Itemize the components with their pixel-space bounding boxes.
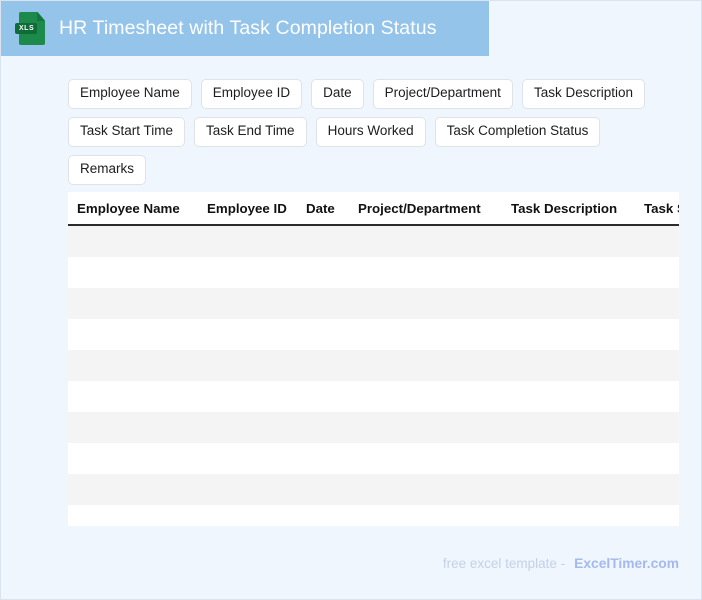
table-cell[interactable] — [306, 288, 358, 319]
table-row[interactable] — [68, 412, 679, 443]
table-cell[interactable] — [306, 505, 358, 526]
table-cell[interactable] — [644, 257, 679, 288]
column-header-employee-id[interactable]: Employee ID — [207, 192, 306, 225]
table-cell[interactable] — [207, 350, 306, 381]
column-header-task-description[interactable]: Task Description — [511, 192, 644, 225]
footer-brand-link[interactable]: ExcelTimer.com — [574, 556, 679, 571]
table-row[interactable] — [68, 381, 679, 412]
page-title: HR Timesheet with Task Completion Status — [59, 17, 437, 40]
table-cell-spacer — [68, 225, 77, 257]
table-cell[interactable] — [207, 381, 306, 412]
table-cell[interactable] — [644, 381, 679, 412]
table-cell[interactable] — [358, 381, 511, 412]
table-cell[interactable] — [207, 412, 306, 443]
table-cell[interactable] — [511, 257, 644, 288]
table-header-row: Employee Name Employee ID Date Project/D… — [68, 192, 679, 225]
field-chip-project-department[interactable]: Project/Department — [373, 79, 513, 109]
field-chip-employee-name[interactable]: Employee Name — [68, 79, 192, 109]
table-cell[interactable] — [207, 443, 306, 474]
table-cell[interactable] — [358, 505, 511, 526]
table-cell[interactable] — [358, 319, 511, 350]
table-cell[interactable] — [644, 288, 679, 319]
table-cell[interactable] — [358, 474, 511, 505]
table-row[interactable] — [68, 505, 679, 526]
table-cell[interactable] — [358, 257, 511, 288]
table-cell[interactable] — [306, 319, 358, 350]
field-chip-task-start-time[interactable]: Task Start Time — [68, 117, 185, 147]
table-cell[interactable] — [306, 443, 358, 474]
footer-attribution: free excel template - ExcelTimer.com — [443, 556, 679, 571]
table-row[interactable] — [68, 319, 679, 350]
table-cell[interactable] — [511, 443, 644, 474]
table-cell-spacer — [68, 474, 77, 505]
table-cell[interactable] — [77, 288, 207, 319]
table-cell[interactable] — [644, 443, 679, 474]
table-cell[interactable] — [511, 350, 644, 381]
table-cell[interactable] — [306, 225, 358, 257]
table-cell[interactable] — [77, 412, 207, 443]
table-row[interactable] — [68, 443, 679, 474]
table-cell[interactable] — [207, 257, 306, 288]
table-cell[interactable] — [306, 412, 358, 443]
table-row[interactable] — [68, 257, 679, 288]
table-row[interactable] — [68, 474, 679, 505]
table-row[interactable] — [68, 288, 679, 319]
field-chip-date[interactable]: Date — [311, 79, 364, 109]
field-chip-task-completion-status[interactable]: Task Completion Status — [435, 117, 601, 147]
table-cell[interactable] — [77, 350, 207, 381]
table-cell[interactable] — [358, 225, 511, 257]
table-row[interactable] — [68, 225, 679, 257]
table-cell[interactable] — [207, 319, 306, 350]
table-cell[interactable] — [77, 319, 207, 350]
table-cell[interactable] — [358, 288, 511, 319]
column-header-task-start-time[interactable]: Task Start Time — [644, 192, 679, 225]
field-chip-task-end-time[interactable]: Task End Time — [194, 117, 307, 147]
table-cell[interactable] — [306, 474, 358, 505]
table-cell-spacer — [68, 412, 77, 443]
table-cell[interactable] — [207, 505, 306, 526]
timesheet-table-container[interactable]: Employee Name Employee ID Date Project/D… — [68, 192, 679, 526]
table-cell[interactable] — [511, 319, 644, 350]
column-header-date[interactable]: Date — [306, 192, 358, 225]
table-cell[interactable] — [358, 350, 511, 381]
field-chip-remarks[interactable]: Remarks — [68, 155, 146, 185]
table-cell[interactable] — [644, 350, 679, 381]
table-cell[interactable] — [644, 505, 679, 526]
table-cell[interactable] — [77, 443, 207, 474]
table-header: Employee Name Employee ID Date Project/D… — [68, 192, 679, 225]
table-cell[interactable] — [207, 474, 306, 505]
table-cell-spacer — [68, 319, 77, 350]
field-chip-hours-worked[interactable]: Hours Worked — [316, 117, 426, 147]
field-chip-list: Employee Name Employee ID Date Project/D… — [68, 79, 668, 185]
table-cell-spacer — [68, 257, 77, 288]
table-row[interactable] — [68, 350, 679, 381]
table-cell[interactable] — [358, 443, 511, 474]
table-cell[interactable] — [511, 412, 644, 443]
footer-label: free excel template - — [443, 556, 565, 571]
template-page: XLS HR Timesheet with Task Completion St… — [0, 0, 702, 600]
table-cell[interactable] — [511, 505, 644, 526]
table-cell[interactable] — [77, 474, 207, 505]
table-cell-spacer — [68, 381, 77, 412]
field-chip-task-description[interactable]: Task Description — [522, 79, 645, 109]
table-cell[interactable] — [644, 474, 679, 505]
table-cell[interactable] — [511, 288, 644, 319]
table-cell[interactable] — [511, 225, 644, 257]
table-cell[interactable] — [77, 381, 207, 412]
table-cell[interactable] — [511, 381, 644, 412]
table-cell[interactable] — [77, 505, 207, 526]
table-cell-spacer — [68, 350, 77, 381]
table-cell[interactable] — [306, 381, 358, 412]
table-header-spacer — [68, 192, 77, 225]
xls-file-icon: XLS — [19, 12, 45, 45]
xls-icon-badge-label: XLS — [15, 23, 37, 34]
page-header-bar: XLS HR Timesheet with Task Completion St… — [1, 1, 489, 56]
table-cell-spacer — [68, 288, 77, 319]
field-chip-employee-id[interactable]: Employee ID — [201, 79, 302, 109]
table-cell-spacer — [68, 505, 77, 526]
table-cell[interactable] — [306, 350, 358, 381]
table-cell[interactable] — [644, 225, 679, 257]
timesheet-table: Employee Name Employee ID Date Project/D… — [68, 192, 679, 526]
column-header-employee-name[interactable]: Employee Name — [77, 192, 207, 225]
table-cell[interactable] — [306, 257, 358, 288]
table-body — [68, 225, 679, 526]
table-cell[interactable] — [77, 257, 207, 288]
table-cell[interactable] — [644, 412, 679, 443]
table-cell[interactable] — [207, 288, 306, 319]
table-cell[interactable] — [207, 225, 306, 257]
table-cell[interactable] — [358, 412, 511, 443]
table-cell[interactable] — [77, 225, 207, 257]
table-cell-spacer — [68, 443, 77, 474]
table-cell[interactable] — [644, 319, 679, 350]
column-header-project-department[interactable]: Project/Department — [358, 192, 511, 225]
table-cell[interactable] — [511, 474, 644, 505]
